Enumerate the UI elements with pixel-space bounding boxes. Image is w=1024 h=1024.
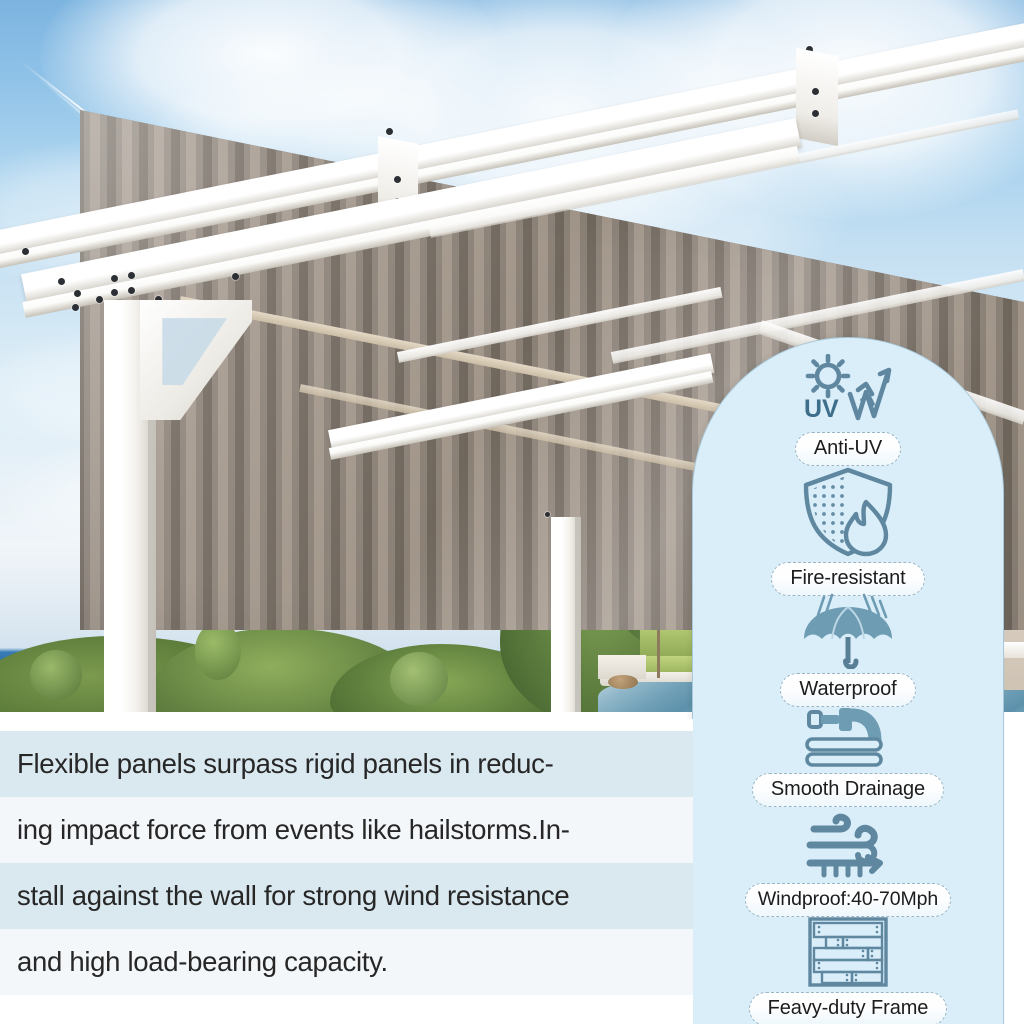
feature-item-heavy-duty-frame[interactable]: Feavy-duty Frame — [693, 916, 1003, 1024]
feature-item-waterproof[interactable]: Waterproof — [693, 593, 1003, 707]
garden-pole — [657, 600, 660, 678]
description-line: ing impact force from events like hailst… — [0, 797, 693, 863]
shrub-blob — [195, 622, 241, 680]
rock-feature — [608, 675, 638, 689]
feature-item-windproof[interactable]: Windproof:40-70Mph — [693, 813, 1003, 917]
roof-bolt — [394, 176, 401, 183]
feature-highlights-panel: UV Anti-UV — [692, 337, 1004, 1024]
wind-gust-icon — [796, 813, 900, 879]
beam-bolt — [128, 272, 135, 279]
roof-bolt — [22, 248, 29, 255]
feature-label-waterproof: Waterproof — [780, 673, 915, 707]
roof-bolt — [386, 128, 393, 135]
text-block-top-gap — [0, 719, 693, 731]
beam-bolt — [128, 287, 135, 294]
description-line: Flexible panels surpass rigid panels in … — [0, 731, 693, 797]
beam-bolt — [111, 275, 118, 282]
beam-bolt — [111, 289, 118, 296]
feature-label-fire-resistant: Fire-resistant — [771, 562, 924, 596]
description-text-block: Flexible panels surpass rigid panels in … — [0, 719, 693, 1024]
feature-item-fire-resistant[interactable]: Fire-resistant — [693, 466, 1003, 596]
feature-list: UV Anti-UV — [693, 338, 1003, 1024]
roof-mounting-plate — [796, 48, 838, 146]
beam-bolt — [58, 278, 65, 285]
fascia-bolt — [545, 512, 550, 517]
feature-item-smooth-drainage[interactable]: Smooth Drainage — [693, 703, 1003, 807]
svg-text:UV: UV — [804, 395, 839, 423]
shrub-blob — [30, 650, 82, 700]
beam-bolt — [74, 290, 81, 297]
feature-label-heavy-duty-frame: Feavy-duty Frame — [749, 992, 948, 1024]
roof-bolt — [812, 110, 819, 117]
feature-label-anti-uv: Anti-UV — [795, 432, 901, 466]
roof-bolt — [812, 88, 819, 95]
coiled-hose-icon — [795, 703, 901, 769]
shrub-blob — [390, 652, 448, 706]
umbrella-rain-icon — [794, 593, 902, 669]
description-line: stall against the wall for strong wind r… — [0, 863, 693, 929]
product-feature-image: UV Anti-UV — [0, 0, 1024, 1024]
beam-bolt — [96, 296, 103, 303]
feature-label-smooth-drainage: Smooth Drainage — [752, 773, 944, 807]
sun-uv-arrow-icon: UV — [792, 354, 904, 428]
beam-bolt — [72, 304, 79, 311]
feature-item-anti-uv[interactable]: UV Anti-UV — [693, 354, 1003, 466]
post-right-shadow — [575, 517, 583, 719]
beam-bolt — [232, 273, 239, 280]
description-line: and high load-bearing capacity. — [0, 929, 693, 995]
shield-flame-icon — [794, 466, 902, 558]
feature-label-windproof: Windproof:40-70Mph — [745, 883, 951, 917]
layered-frame-icon — [806, 916, 890, 988]
